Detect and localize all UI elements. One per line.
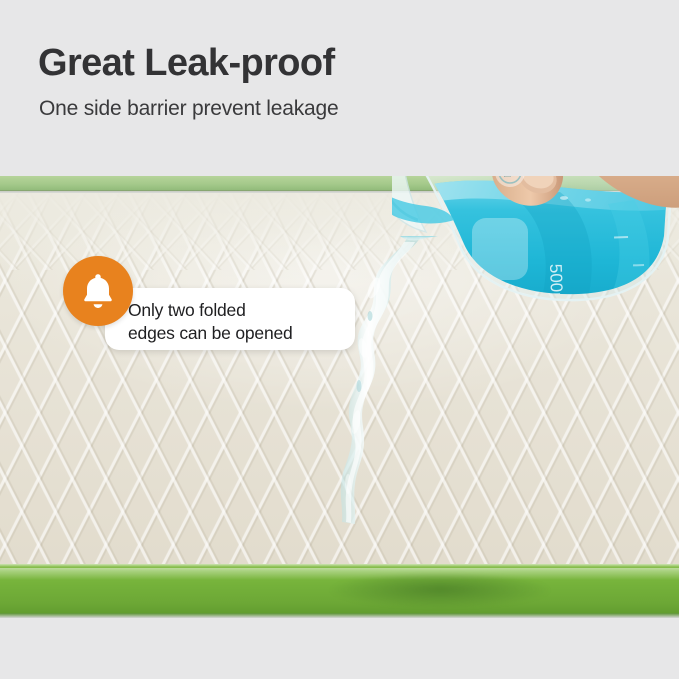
beaker-mark-500ml: 500ml: [546, 263, 567, 310]
mat-front-base-shadow: [0, 613, 679, 618]
product-marketing-image: 500ml GG-17 300 200: [0, 0, 679, 679]
mat-front-lip-highlight: [0, 564, 679, 567]
mat-front-gloss: [0, 568, 679, 580]
header-band: Great Leak-proof One side barrier preven…: [0, 0, 679, 176]
callout-text: Only two folded edges can be opened: [128, 299, 360, 346]
callout-line-1: Only two folded: [128, 299, 360, 322]
bell-icon: [80, 272, 116, 310]
callout-line-2: edges can be opened: [128, 322, 360, 345]
mat-front-wet-patch: [330, 574, 550, 608]
beaker-mark-brand: GG-17: [418, 236, 437, 282]
page-title: Great Leak-proof: [38, 44, 335, 84]
page-subtitle: One side barrier prevent leakage: [39, 96, 338, 121]
callout-badge: [63, 256, 133, 326]
